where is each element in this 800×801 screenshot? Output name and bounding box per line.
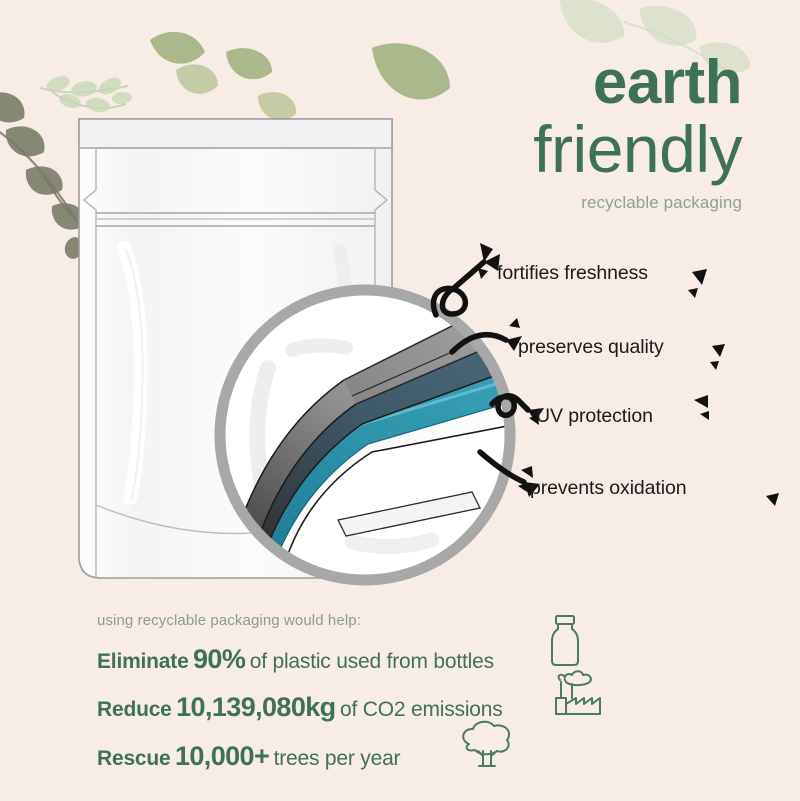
headline-block: earth friendly recyclable packaging: [533, 52, 742, 211]
callout-label-preserves-quality: preserves quality: [518, 336, 664, 359]
headline-line-1: earth: [533, 52, 742, 114]
stats-intro-text: using recyclable packaging would help:: [97, 612, 503, 629]
poster-canvas: earth friendly recyclable packaging fort…: [0, 0, 800, 801]
stat-row: Eliminate 90% of plastic used from bottl…: [97, 645, 503, 673]
stat-rest: of plastic used from bottles: [250, 650, 494, 673]
stat-value: 10,000+: [175, 741, 269, 771]
stat-verb: Eliminate: [97, 650, 189, 673]
tree-icon: [457, 718, 517, 772]
stat-value: 10,139,080kg: [176, 692, 335, 722]
stat-verb: Rescue: [97, 747, 171, 770]
headline-subtitle: recyclable packaging: [533, 194, 742, 211]
headline-line-2: friendly: [533, 116, 742, 182]
callout-label-uv-protection: UV protection: [536, 405, 653, 428]
callout-label-prevents-oxidation: prevents oxidation: [530, 477, 686, 500]
stat-verb: Reduce: [97, 698, 172, 721]
callout-label-fortifies-freshness: fortifies freshness: [497, 262, 648, 285]
stat-value: 90%: [193, 644, 245, 674]
bottle-icon: [545, 613, 585, 669]
stat-row: Rescue 10,000+ trees per year: [97, 742, 503, 770]
stat-row: Reduce 10,139,080kg of CO2 emissions: [97, 693, 503, 721]
factory-icon: [552, 668, 604, 718]
stat-rest: trees per year: [274, 747, 401, 770]
stats-block: using recyclable packaging would help: E…: [97, 612, 503, 783]
